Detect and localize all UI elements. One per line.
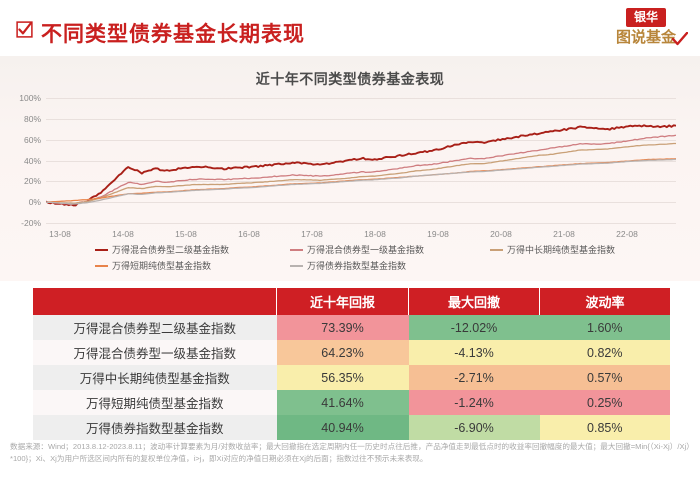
table-row: 万得中长期纯债型基金指数56.35%-2.71%0.57% xyxy=(33,365,670,390)
table-header-name xyxy=(33,288,277,315)
legend-color-swatch xyxy=(490,249,503,251)
table-cell-volatility: 0.85% xyxy=(540,415,671,440)
table-cell-drawdown: -4.13% xyxy=(409,340,540,365)
x-axis-tick-label: 22-08 xyxy=(616,229,638,239)
x-axis-tick-label: 15-08 xyxy=(175,229,197,239)
page-title: 不同类型债券基金长期表现 xyxy=(41,18,305,48)
gridline xyxy=(46,223,676,224)
checkbox-checked-icon xyxy=(16,21,33,38)
brand-logo: 银华 图说基金 xyxy=(604,8,688,50)
table-cell-fund-name: 万得混合债券型一级基金指数 xyxy=(33,340,277,365)
table-cell-return: 56.35% xyxy=(277,365,409,390)
page-header: 不同类型债券基金长期表现 银华 图说基金 xyxy=(0,0,700,56)
x-axis-tick-label: 20-08 xyxy=(490,229,512,239)
x-axis-tick-label: 13-08 xyxy=(49,229,71,239)
table-cell-fund-name: 万得债券指数型基金指数 xyxy=(33,415,277,440)
table-row: 万得短期纯债型基金指数41.64%-1.24%0.25% xyxy=(33,390,670,415)
table-row: 万得混合债券型一级基金指数64.23%-4.13%0.82% xyxy=(33,340,670,365)
table-cell-return: 41.64% xyxy=(277,390,409,415)
table-cell-volatility: 1.60% xyxy=(540,315,671,340)
legend-color-swatch xyxy=(95,265,108,267)
table-cell-return: 40.94% xyxy=(277,415,409,440)
legend-color-swatch xyxy=(290,265,303,267)
legend-color-swatch xyxy=(290,249,303,251)
chart-plot-area: 100%80%60%40%20%0%-20% 13-0814-0815-0816… xyxy=(46,98,676,223)
table-cell-drawdown: -12.02% xyxy=(409,315,540,340)
table-header-drawdown: 最大回撤 xyxy=(409,288,540,315)
chart-panel: 近十年不同类型债券基金表现 100%80%60%40%20%0%-20% 13-… xyxy=(0,56,700,281)
x-axis-tick-label: 17-08 xyxy=(301,229,323,239)
logo-brand-text: 银华 xyxy=(626,8,666,27)
x-axis-tick-label: 18-08 xyxy=(364,229,386,239)
check-mark-icon xyxy=(672,32,688,46)
chart-title: 近十年不同类型债券基金表现 xyxy=(0,69,700,89)
y-axis-tick-label: 60% xyxy=(24,135,41,145)
table-header-row: 近十年回报 最大回撤 波动率 xyxy=(33,288,670,315)
x-axis-tick-label: 19-08 xyxy=(427,229,449,239)
legend-item[interactable]: 万得混合债券型二级基金指数 xyxy=(95,243,229,256)
legend-item[interactable]: 万得债券指数型基金指数 xyxy=(290,259,406,272)
table-cell-volatility: 0.82% xyxy=(540,340,671,365)
chart-legend: 万得混合债券型二级基金指数万得混合债券型一级基金指数万得中长期纯债型基金指数万得… xyxy=(0,241,700,281)
table-cell-volatility: 0.57% xyxy=(540,365,671,390)
legend-item[interactable]: 万得短期纯债型基金指数 xyxy=(95,259,211,272)
table-cell-fund-name: 万得中长期纯债型基金指数 xyxy=(33,365,277,390)
legend-label: 万得短期纯债型基金指数 xyxy=(112,259,211,272)
chart-line-series xyxy=(46,160,676,204)
legend-color-swatch xyxy=(95,249,108,251)
legend-label: 万得混合债券型一级基金指数 xyxy=(307,243,424,256)
table-header-return: 近十年回报 xyxy=(277,288,409,315)
y-axis-tick-label: 0% xyxy=(29,197,41,207)
table-cell-drawdown: -1.24% xyxy=(409,390,540,415)
table-cell-return: 73.39% xyxy=(277,315,409,340)
y-axis-tick-label: 40% xyxy=(24,156,41,166)
table-cell-volatility: 0.25% xyxy=(540,390,671,415)
table-row: 万得债券指数型基金指数40.94%-6.90%0.85% xyxy=(33,415,670,440)
legend-item[interactable]: 万得混合债券型一级基金指数 xyxy=(290,243,424,256)
table-cell-return: 64.23% xyxy=(277,340,409,365)
table-cell-fund-name: 万得混合债券型二级基金指数 xyxy=(33,315,277,340)
x-axis-tick-label: 14-08 xyxy=(112,229,134,239)
y-axis-tick-label: 80% xyxy=(24,114,41,124)
legend-label: 万得中长期纯债型基金指数 xyxy=(507,243,615,256)
legend-label: 万得债券指数型基金指数 xyxy=(307,259,406,272)
table-row: 万得混合债券型二级基金指数73.39%-12.02%1.60% xyxy=(33,315,670,340)
legend-item[interactable]: 万得中长期纯债型基金指数 xyxy=(490,243,615,256)
footnote: 数据来源：Wind；2013.8.12-2023.8.11；波动率计算要素为月/… xyxy=(10,441,690,465)
legend-label: 万得混合债券型二级基金指数 xyxy=(112,243,229,256)
x-axis-tick-label: 21-08 xyxy=(553,229,575,239)
table-header-volatility: 波动率 xyxy=(540,288,671,315)
y-axis-tick-label: 100% xyxy=(19,93,41,103)
y-axis-tick-label: -20% xyxy=(21,218,41,228)
performance-table: 近十年回报 最大回撤 波动率 万得混合债券型二级基金指数73.39%-12.02… xyxy=(33,288,670,440)
table-cell-fund-name: 万得短期纯债型基金指数 xyxy=(33,390,277,415)
y-axis-tick-label: 20% xyxy=(24,176,41,186)
table-cell-drawdown: -2.71% xyxy=(409,365,540,390)
x-axis-tick-label: 16-08 xyxy=(238,229,260,239)
table-cell-drawdown: -6.90% xyxy=(409,415,540,440)
chart-series-lines xyxy=(46,98,676,223)
